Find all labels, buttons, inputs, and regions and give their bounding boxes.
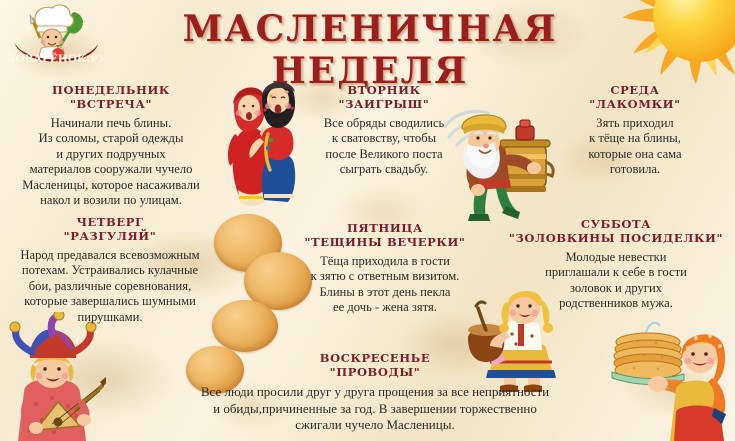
day-heading-tuesday: ВТОРНИК "ЗАИГРЫШ" <box>296 84 472 111</box>
day-block-sunday: ВОСКРЕСЕНЬЕ "ПРОВОДЫ" Все люди просили д… <box>150 352 600 434</box>
day-heading-friday: ПЯТНИЦА "ТЕЩИНЫ ВЕЧЕРКИ" <box>290 222 480 249</box>
logo-text: ПОВАРЁНОК.РУ <box>8 51 104 65</box>
skomorokh-with-balalaika-illustration <box>2 312 106 441</box>
povarenok-logo[interactable]: ПОВАРЁНОК.РУ <box>8 2 104 68</box>
day-text-tuesday: Все обряды сводились к сватовству, чтобы… <box>296 116 472 178</box>
maslenitsa-poster: ПОВАРЁНОК.РУ МАСЛЕНИЧНАЯ НЕДЕЛЯ <box>0 0 735 441</box>
day-block-thursday: ЧЕТВЕРГ "РАЗГУЛЯЙ" Народ предавался всев… <box>2 216 218 325</box>
day-heading-monday: ПОНЕДЕЛЬНИК "ВСТРЕЧА" <box>4 84 218 111</box>
day-block-wednesday: СРЕДА "ЛАКОМКИ" Зять приходил к тёще на … <box>540 84 730 178</box>
day-text-saturday: Молодые невестки приглашали к себе в гос… <box>500 250 732 312</box>
day-text-sunday: Все люди просили друг у друга прощения з… <box>150 384 600 434</box>
day-block-saturday: СУББОТА "ЗОЛОВКИНЫ ПОСИДЕЛКИ" Молодые не… <box>500 218 732 312</box>
day-block-monday: ПОНЕДЕЛЬНИК "ВСТРЕЧА" Начинали печь блин… <box>4 84 218 208</box>
day-heading-thursday: ЧЕТВЕРГ "РАЗГУЛЯЙ" <box>2 216 218 243</box>
day-block-tuesday: ВТОРНИК "ЗАИГРЫШ" Все обряды сводились к… <box>296 84 472 178</box>
page-title: МАСЛЕНИЧНАЯ НЕДЕЛЯ <box>120 8 620 92</box>
day-text-friday: Тёща приходила в гости к зятю с ответным… <box>290 254 480 316</box>
day-text-wednesday: Зять приходил к тёще на блины, которые о… <box>540 116 730 178</box>
woman-with-blini-plate-illustration <box>604 316 735 441</box>
day-heading-sunday: ВОСКРЕСЕНЬЕ "ПРОВОДЫ" <box>150 352 600 379</box>
day-heading-saturday: СУББОТА "ЗОЛОВКИНЫ ПОСИДЕЛКИ" <box>500 218 732 245</box>
day-heading-wednesday: СРЕДА "ЛАКОМКИ" <box>540 84 730 111</box>
day-text-monday: Начинали печь блины. Из соломы, старой о… <box>4 116 218 208</box>
day-block-friday: ПЯТНИЦА "ТЕЩИНЫ ВЕЧЕРКИ" Тёща приходила … <box>290 222 480 316</box>
blin-illustration <box>212 300 278 352</box>
day-text-thursday: Народ предавался всевозможным потехам. У… <box>2 248 218 325</box>
poster-header: ПОВАРЁНОК.РУ МАСЛЕНИЧНАЯ НЕДЕЛЯ <box>0 0 735 66</box>
